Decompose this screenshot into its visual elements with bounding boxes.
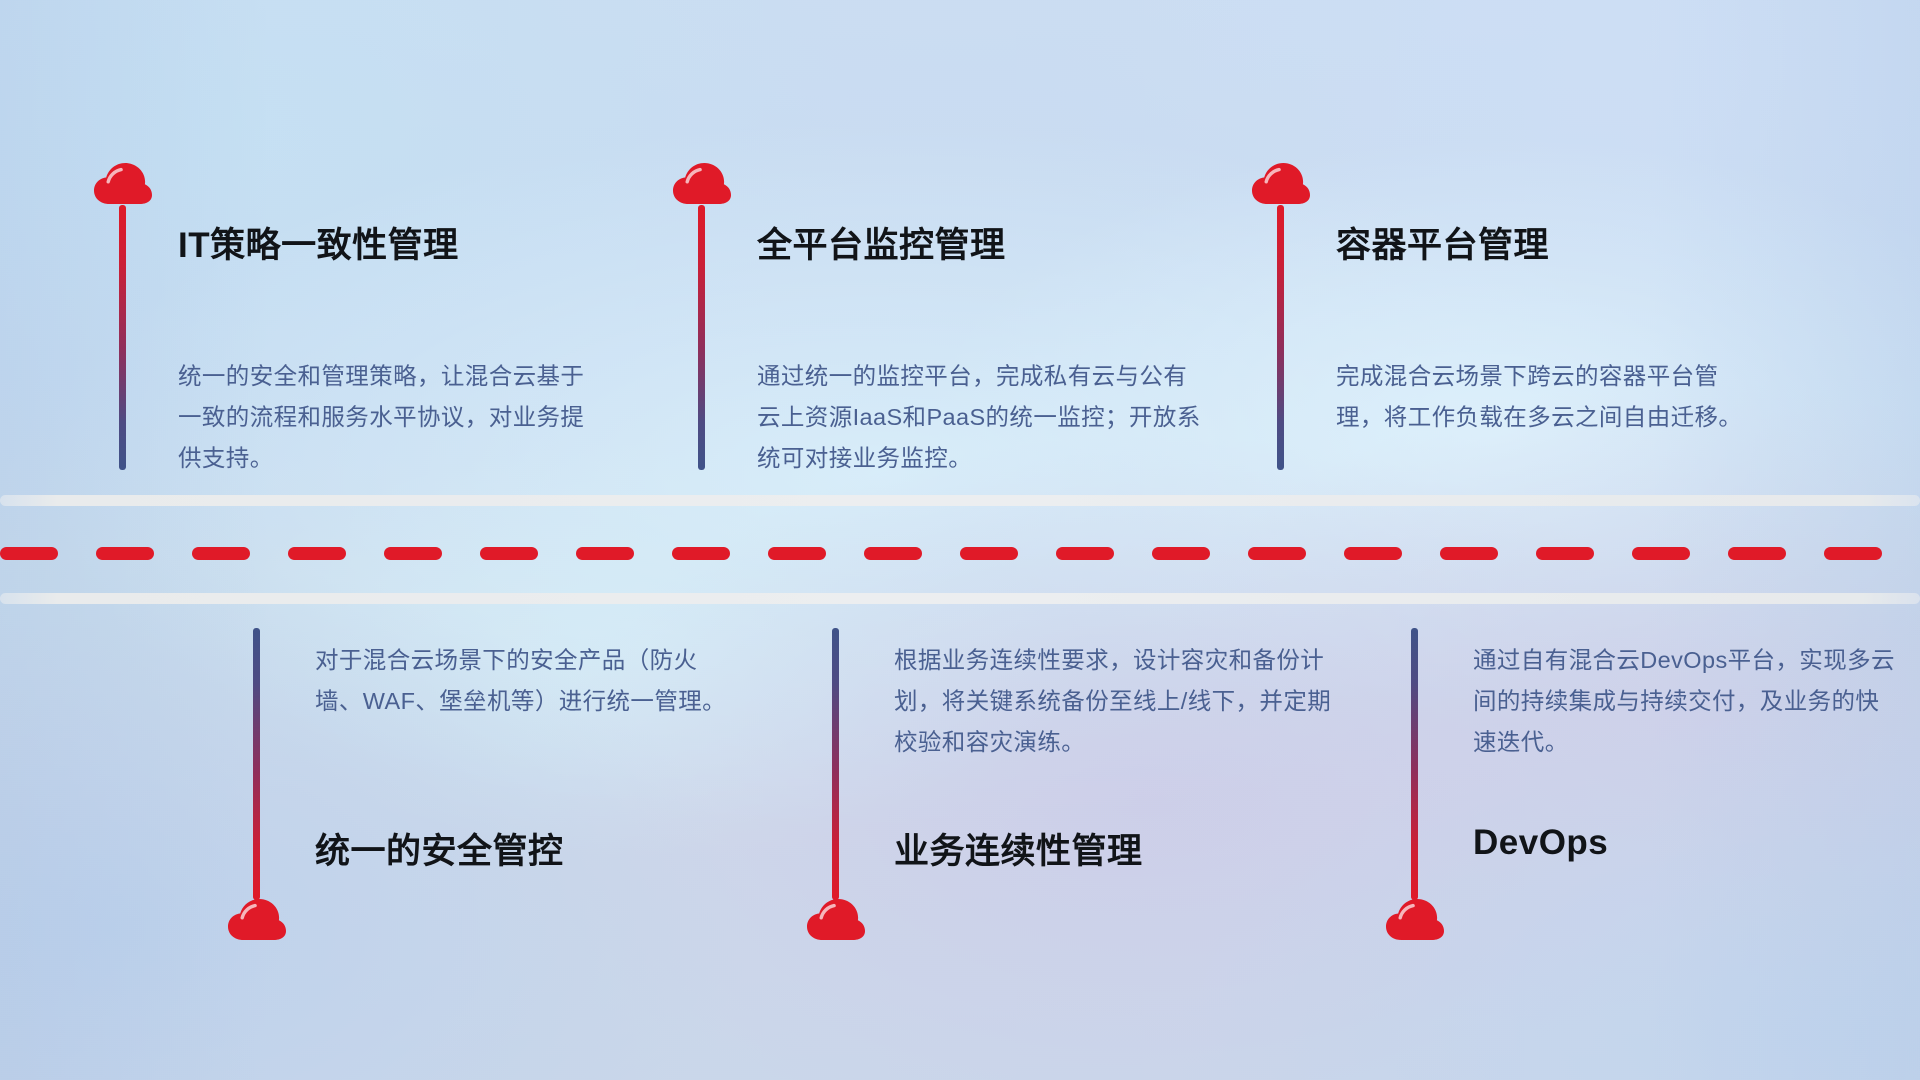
card-heading: 全平台监控管理 [757, 217, 1006, 268]
divider-rail-bottom [0, 593, 1920, 604]
connector-line [1411, 628, 1418, 900]
divider-dash [384, 547, 442, 560]
divider-dash [1152, 547, 1210, 560]
card-body: 统一的安全和管理策略，让混合云基于一致的流程和服务水平协议，对业务提供支持。 [178, 356, 608, 479]
cloud-icon [226, 896, 288, 942]
card-body: 根据业务连续性要求，设计容灾和备份计划，将关键系统备份至线上/线下，并定期校验和… [894, 640, 1339, 763]
divider-dash [1824, 547, 1882, 560]
background-noise [0, 0, 1920, 1080]
divider-dash [1728, 547, 1786, 560]
background-glow-center [0, 0, 1920, 1080]
divider-dash [480, 547, 538, 560]
divider-dash [0, 547, 58, 560]
divider-dash [1632, 547, 1690, 560]
card-body: 完成混合云场景下跨云的容器平台管理，将工作负载在多云之间自由迁移。 [1336, 356, 1766, 438]
infographic-canvas: IT策略一致性管理 统一的安全和管理策略，让混合云基于一致的流程和服务水平协议，… [0, 0, 1920, 1080]
connector-line [1277, 205, 1284, 470]
divider-dash [1248, 547, 1306, 560]
connector-line [119, 205, 126, 470]
divider-dash [672, 547, 730, 560]
divider-dash [1536, 547, 1594, 560]
card-heading: 容器平台管理 [1336, 217, 1549, 268]
cloud-icon [1250, 160, 1312, 206]
background-glow-top-left [0, 0, 1920, 1080]
cloud-icon [805, 896, 867, 942]
card-body: 对于混合云场景下的安全产品（防火墙、WAF、堡垒机等）进行统一管理。 [315, 640, 745, 722]
card-heading: 统一的安全管控 [315, 823, 564, 874]
cloud-icon [671, 160, 733, 206]
background-glow-cyan [0, 0, 1920, 1080]
divider-dash [1344, 547, 1402, 560]
divider-dash [960, 547, 1018, 560]
background-glow-lavender-2 [0, 0, 1920, 1080]
card-body: 通过自有混合云DevOps平台，实现多云间的持续集成与持续交付，及业务的快速迭代… [1473, 640, 1903, 763]
cloud-icon [1384, 896, 1446, 942]
divider-dashed-line [0, 547, 1920, 560]
divider-dash [1440, 547, 1498, 560]
background-glow-top-right [0, 0, 1920, 1080]
divider-dash [288, 547, 346, 560]
card-heading: DevOps [1473, 823, 1608, 863]
divider-dash [576, 547, 634, 560]
cloud-icon [92, 160, 154, 206]
background-glow-cyan-2 [0, 0, 1920, 1080]
background-glow-bottom-right [0, 0, 1920, 1080]
connector-line [832, 628, 839, 900]
divider-dash [96, 547, 154, 560]
divider-dash [768, 547, 826, 560]
card-heading: 业务连续性管理 [894, 823, 1143, 874]
divider-dash [1056, 547, 1114, 560]
background-base [0, 0, 1920, 1080]
connector-line [253, 628, 260, 900]
background-vignette [0, 0, 1920, 1080]
divider-dash [192, 547, 250, 560]
background-glow-bottom-left [0, 0, 1920, 1080]
card-heading: IT策略一致性管理 [178, 217, 459, 268]
divider-dash [864, 547, 922, 560]
card-body: 通过统一的监控平台，完成私有云与公有云上资源IaaS和PaaS的统一监控；开放系… [757, 356, 1202, 479]
divider-rail-top [0, 495, 1920, 506]
background-glow-lavender [0, 0, 1920, 1080]
connector-line [698, 205, 705, 470]
